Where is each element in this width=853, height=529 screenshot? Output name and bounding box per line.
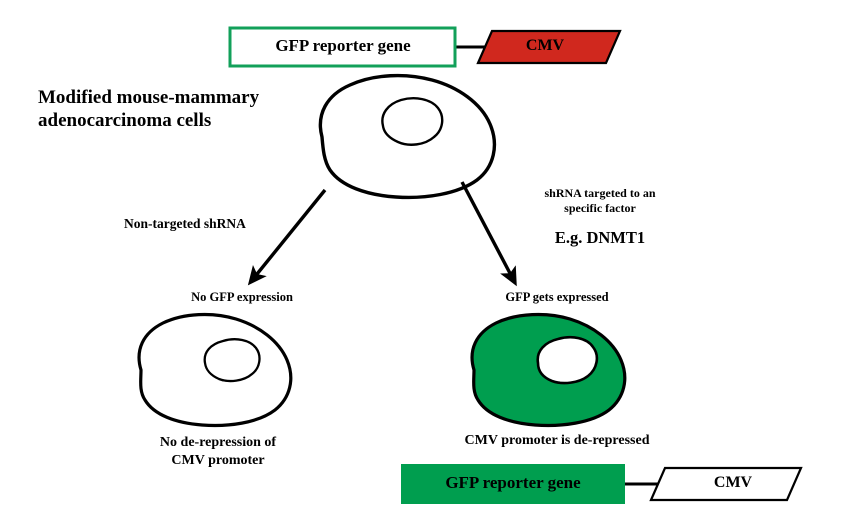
left-branch-arrow [253, 190, 325, 279]
parent-cell-nucleus [382, 98, 442, 144]
right-daughter-cell-nucleus [538, 337, 597, 383]
right-branch-arrow-label-small: shRNA targeted to an specific factor [500, 186, 700, 216]
page-title: Modified mouse-mammary adenocarcinoma ce… [38, 86, 338, 132]
right-outcome-label: GFP gets expressed [467, 290, 647, 305]
left-daughter-cell-nucleus [205, 339, 260, 381]
diagram-canvas: GFP reporter gene CMV Modified mouse-mam… [0, 0, 853, 529]
top-gfp-reporter-label: GFP reporter gene [232, 36, 454, 56]
top-cmv-promoter-label: CMV [500, 37, 590, 55]
right-branch-arrow-label-example: E.g. DNMT1 [500, 228, 700, 247]
bottom-gfp-reporter-label: GFP reporter gene [404, 473, 622, 493]
right-conclusion-label: CMV promoter is de-repressed [437, 433, 677, 450]
bottom-cmv-promoter-label: CMV [688, 474, 778, 492]
left-branch-arrow-label: Non-targeted shRNA [124, 216, 314, 232]
left-outcome-label: No GFP expression [152, 290, 332, 305]
left-conclusion-label: No de-repression of CMV promoter [118, 434, 318, 469]
